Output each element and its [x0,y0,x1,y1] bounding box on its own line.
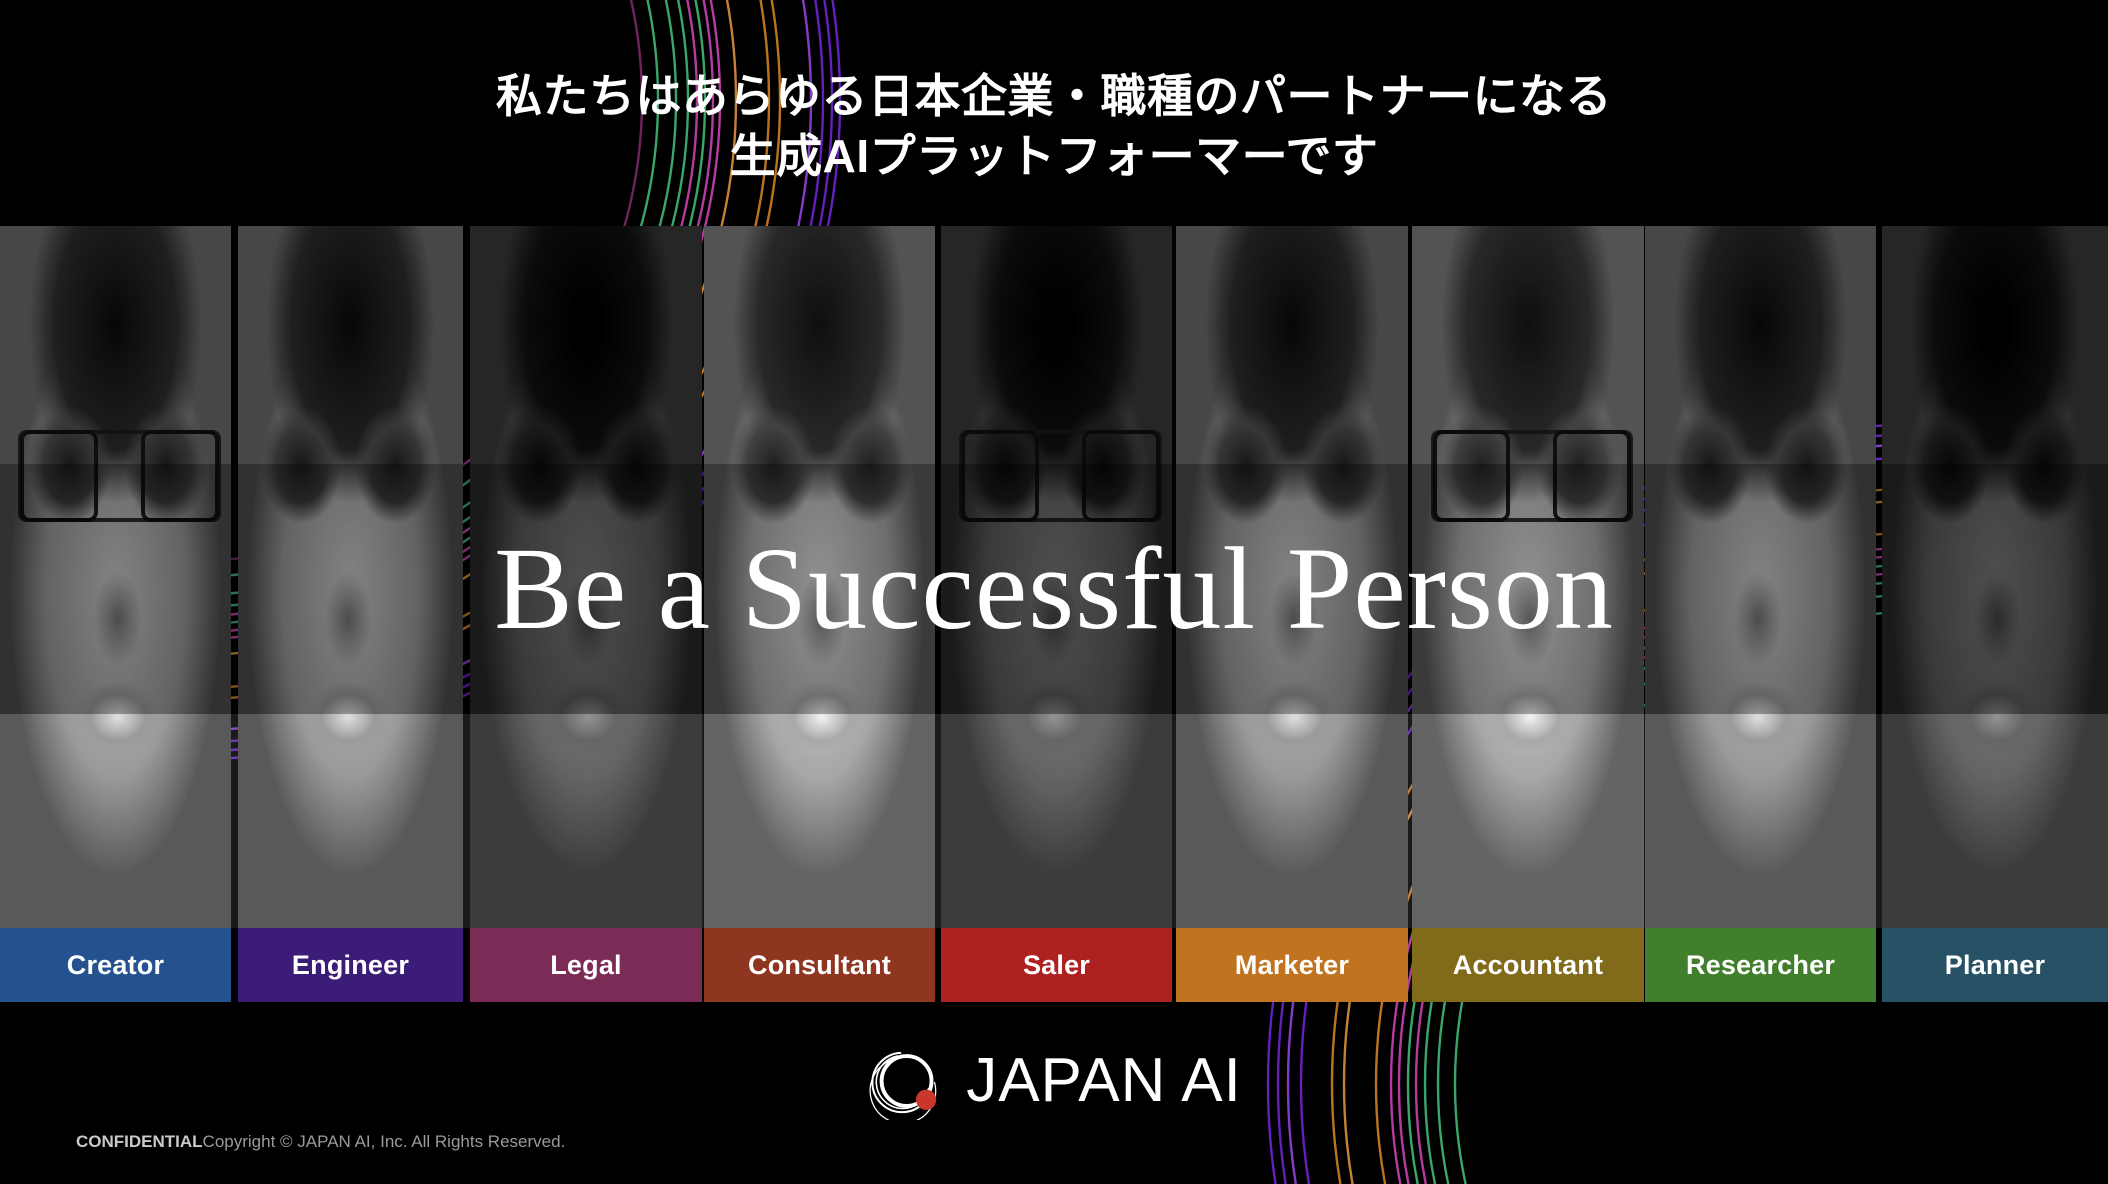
headline-line-2: 生成AIプラットフォーマーです [0,127,2108,187]
japan-ai-enso-icon [866,1042,944,1120]
role-label-engineer[interactable]: Engineer [238,928,463,1002]
role-label-marketer[interactable]: Marketer [1176,928,1408,1002]
role-label-accountant[interactable]: Accountant [1412,928,1644,1002]
brand-logo: JAPAN AI [0,1038,2108,1124]
copyright-text: Copyright © JAPAN AI, Inc. All Rights Re… [203,1132,566,1151]
confidential-label: CONFIDENTIAL [76,1132,203,1151]
headline-line-1: 私たちはあらゆる日本企業・職種のパートナーになる [496,70,1612,122]
role-label-legal[interactable]: Legal [470,928,702,1002]
role-label-bar: CreatorEngineerLegalConsultantSalerMarke… [0,928,2108,1002]
footer-legal: CONFIDENTIALCopyright © JAPAN AI, Inc. A… [76,1132,565,1152]
center-title: Be a Successful Person [0,530,2108,648]
slide-root: 私たちはあらゆる日本企業・職種のパートナーになる 生成AIプラットフォーマーです… [0,0,2108,1184]
role-label-consultant[interactable]: Consultant [704,928,935,1002]
overlay-band-light [0,714,2108,928]
role-label-creator[interactable]: Creator [0,928,231,1002]
logo-wordmark: JAPAN AI [966,1050,1242,1112]
role-label-planner[interactable]: Planner [1882,928,2108,1002]
role-label-researcher[interactable]: Researcher [1645,928,1876,1002]
headline: 私たちはあらゆる日本企業・職種のパートナーになる 生成AIプラットフォーマーです [0,67,2108,187]
role-label-saler[interactable]: Saler [941,928,1172,1002]
